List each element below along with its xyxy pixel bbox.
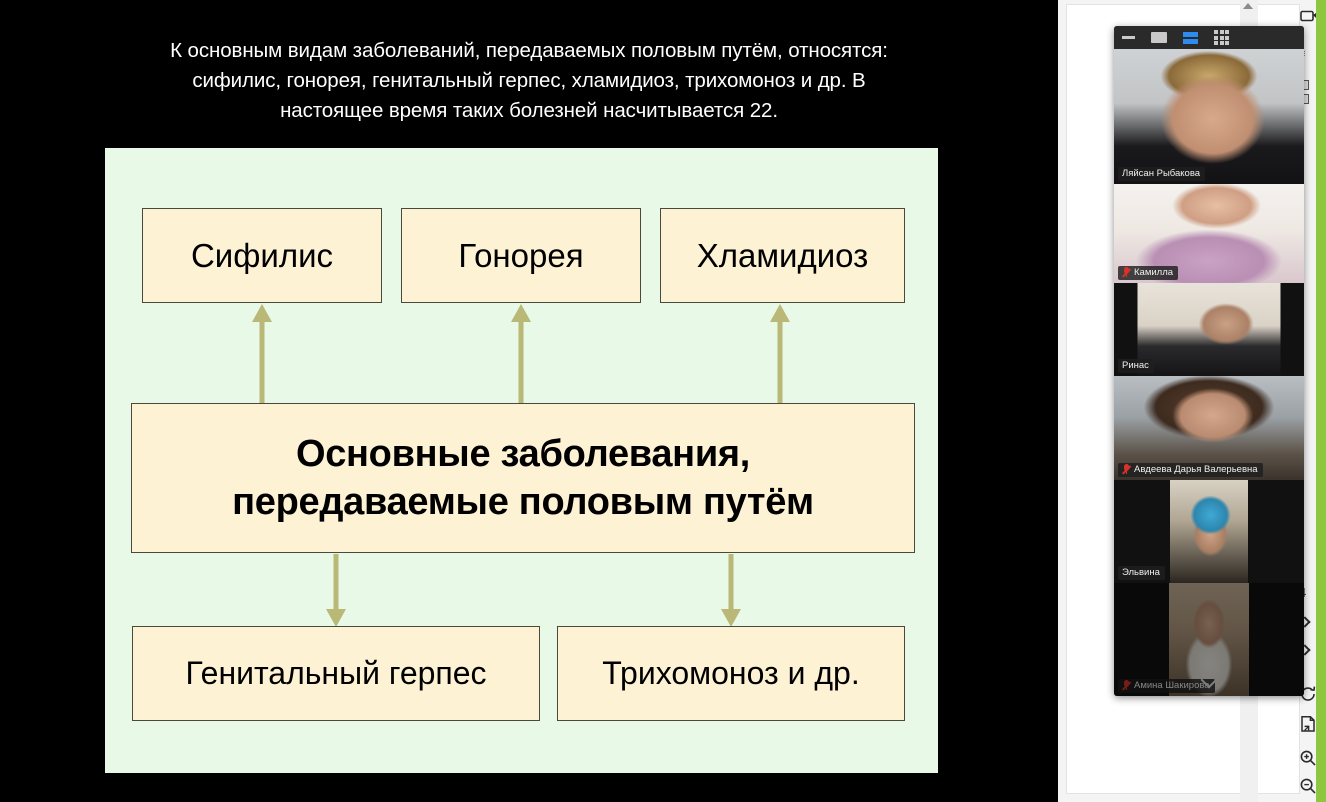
arrow-up-to-chlamydia (768, 304, 792, 404)
diagram-node-syphilis: Сифилис (142, 208, 382, 303)
participant-video (1114, 49, 1304, 184)
participant-tile[interactable]: Камилла (1114, 184, 1304, 283)
participant-name: Амина Шакирова (1134, 680, 1210, 691)
participant-video (1170, 480, 1248, 583)
diagram-node-chlamydia: Хламидиоз (660, 208, 905, 303)
participant-name: Ринас (1122, 360, 1149, 371)
slide-heading-line-1: К основным видам заболеваний, передаваем… (40, 36, 1018, 66)
participant-name-bar: Амина Шакирова (1118, 679, 1215, 693)
node-label: Хламидиоз (697, 237, 869, 275)
node-label: Сифилис (191, 237, 333, 275)
participant-name: Ляйсан Рыбакова (1122, 168, 1200, 179)
diagram-node-gonorrhea: Гонорея (401, 208, 641, 303)
participant-tiles: Ляйсан Рыбакова Камилла Ринас (1114, 49, 1304, 696)
participant-video (1138, 283, 1281, 376)
participant-tile[interactable]: Авдеева Дарья Валерьевна (1114, 376, 1304, 480)
participant-name: Авдеева Дарья Валерьевна (1134, 464, 1258, 475)
video-conference-panel[interactable]: Ляйсан Рыбакова Камилла Ринас (1114, 26, 1304, 696)
mic-muted-icon (1122, 680, 1130, 691)
slide-heading-line-3: настоящее время таких болезней насчитыва… (40, 96, 1018, 126)
fit-page-icon[interactable] (1298, 714, 1318, 734)
mic-muted-icon (1122, 464, 1130, 475)
participant-name-bar: Авдеева Дарья Валерьевна (1118, 463, 1263, 477)
stacked-layout-icon[interactable] (1183, 32, 1198, 44)
diagram-node-genital-herpes: Генитальный герпес (132, 626, 540, 721)
participant-name: Эльвина (1122, 567, 1160, 578)
video-panel-toolbar[interactable] (1114, 26, 1304, 49)
arrow-down-to-trichomonosis (719, 554, 743, 627)
participant-tile[interactable]: Ляйсан Рыбакова (1114, 49, 1304, 184)
zoom-in-icon[interactable] (1298, 748, 1318, 768)
arrow-up-to-syphilis (250, 304, 274, 404)
node-label: Гонорея (458, 237, 583, 275)
participant-tile[interactable]: Ринас (1114, 283, 1304, 376)
diagram-node-center: Основные заболевания, передаваемые полов… (131, 403, 915, 553)
slide-heading: К основным видам заболеваний, передаваем… (40, 36, 1018, 126)
node-label-line-1: Основные заболевания, (232, 430, 814, 478)
diagram-node-trichomonosis: Трихомоноз и др. (557, 626, 905, 721)
diagram-panel: Сифилис Гонорея Хламидиоз Основные забол… (105, 148, 938, 773)
participant-name-bar: Ринас (1118, 359, 1154, 373)
minimize-icon[interactable] (1122, 36, 1135, 39)
presentation-slide: К основным видам заболеваний, передаваем… (0, 0, 1058, 802)
participant-tile[interactable]: Амина Шакирова (1114, 583, 1304, 696)
scroll-up-arrow-icon[interactable] (1243, 3, 1253, 9)
participant-name-bar: Ляйсан Рыбакова (1118, 167, 1205, 181)
participant-name-bar: Камилла (1118, 266, 1178, 280)
mic-muted-icon (1122, 267, 1130, 278)
grid-layout-icon[interactable] (1214, 30, 1229, 45)
node-label: Трихомоноз и др. (602, 655, 859, 692)
accent-edge-strip (1316, 0, 1326, 802)
arrow-up-to-gonorrhea (509, 304, 533, 404)
participant-name: Камилла (1134, 267, 1173, 278)
single-window-icon[interactable] (1151, 32, 1167, 43)
chat-bubble-icon[interactable] (1298, 8, 1318, 28)
node-label-line-2: передаваемые половым путём (232, 478, 814, 526)
arrow-down-to-herpes (324, 554, 348, 627)
slide-heading-line-2: сифилис, гонорея, генитальный герпес, хл… (40, 66, 1018, 96)
zoom-out-icon[interactable] (1298, 776, 1318, 796)
node-label: Генитальный герпес (185, 655, 486, 692)
participant-tile[interactable]: Эльвина (1114, 480, 1304, 583)
participant-name-bar: Эльвина (1118, 566, 1165, 580)
